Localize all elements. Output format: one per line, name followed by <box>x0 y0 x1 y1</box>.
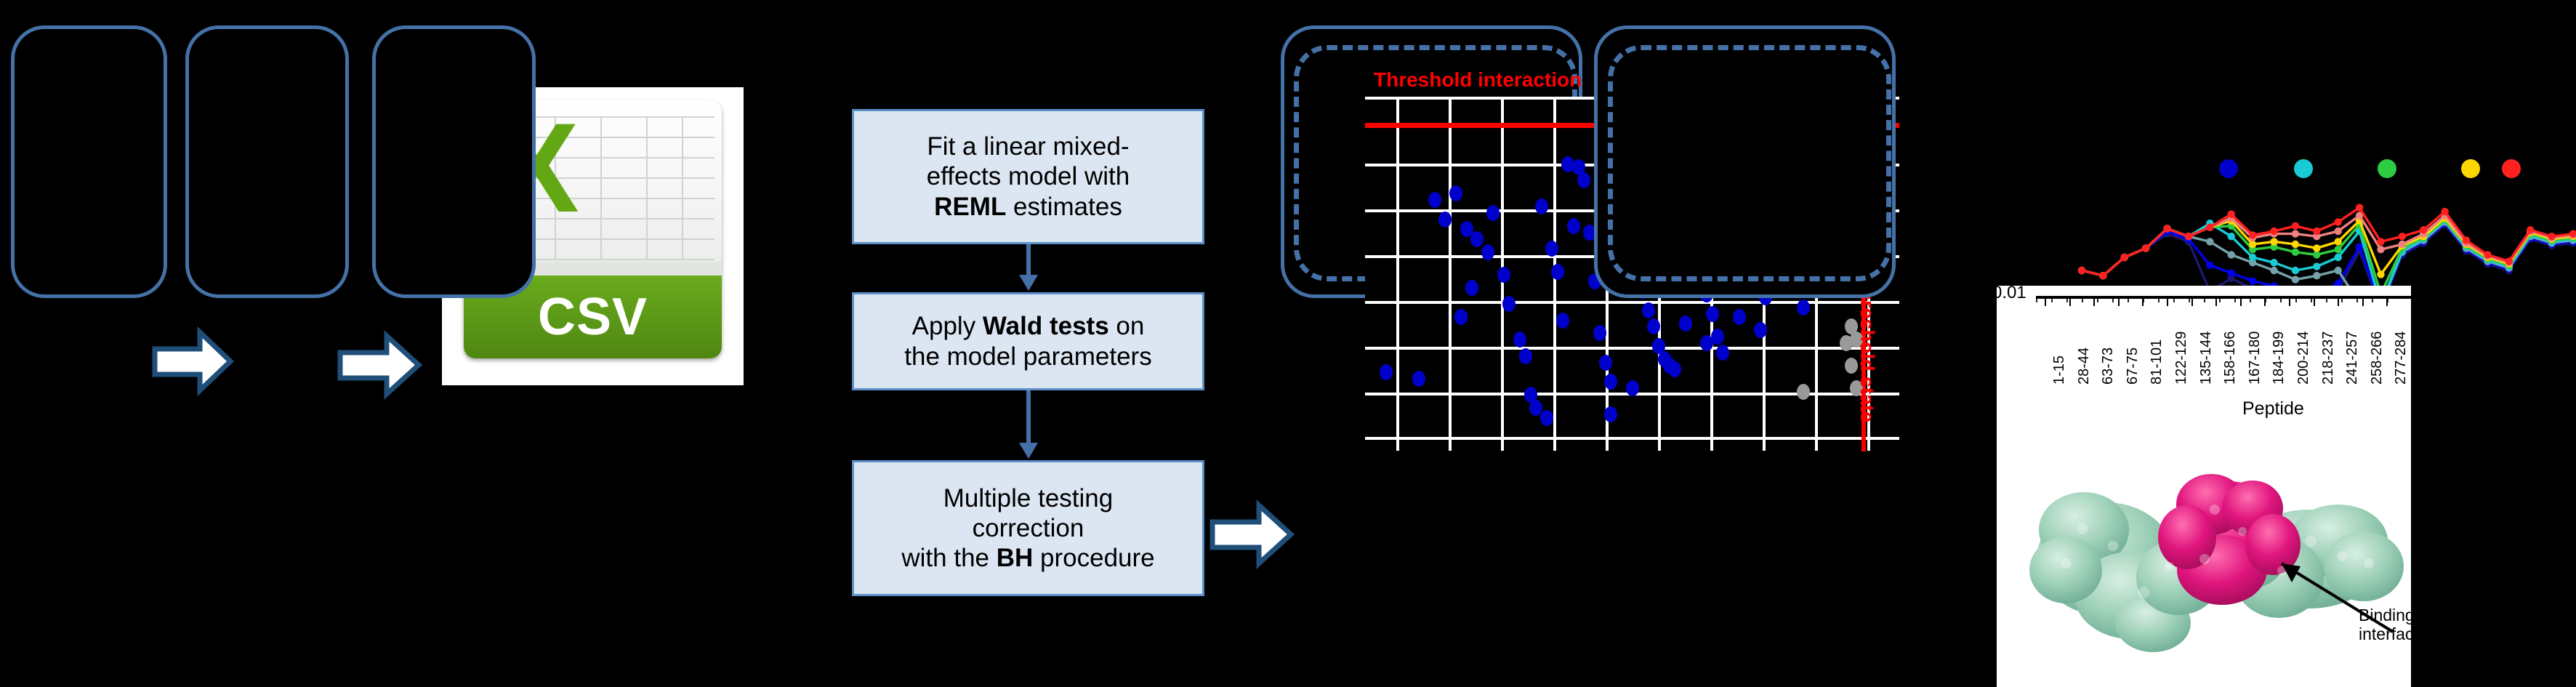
line-point <box>2270 228 2277 235</box>
x-tick <box>2045 296 2046 306</box>
scatter-point-significant <box>1412 371 1425 387</box>
scatter-point-significant <box>1486 205 1500 221</box>
arrow-input-to-csv <box>149 324 236 400</box>
line-point <box>2292 222 2299 230</box>
peptide-tick-label: 122-129 <box>2173 332 2190 385</box>
line-point <box>2249 277 2256 284</box>
scatter-point-significant <box>1706 306 1719 322</box>
grid-h <box>1365 437 1899 440</box>
scatter-point-significant <box>1556 313 1569 329</box>
line-point <box>2292 230 2299 237</box>
peptide-line-chart <box>2018 70 2576 317</box>
scatter-point-significant <box>1599 355 1612 371</box>
line-point <box>2484 251 2491 258</box>
x-minor-tick <box>2051 296 2053 302</box>
line-point <box>2334 228 2341 235</box>
line-point <box>2292 249 2299 256</box>
x-minor-tick <box>2341 296 2343 302</box>
x-minor-tick <box>2372 296 2373 302</box>
x-minor-tick <box>2234 296 2236 302</box>
peptide-figure: 0.01 1-1528-4463-7367-7581-101122-129135… <box>1997 286 2411 687</box>
line-point <box>2270 238 2277 245</box>
scatter-point-significant <box>1668 361 1681 377</box>
x-tick <box>2069 296 2071 306</box>
peptide-tick-label: 218-237 <box>2320 332 2337 385</box>
legend-dot-red <box>2502 159 2521 178</box>
x-minor-tick <box>2219 296 2221 302</box>
x-minor-tick <box>2204 296 2205 302</box>
peptide-tick-label: 135-144 <box>2198 332 2215 385</box>
line-point <box>2505 257 2513 265</box>
x-minor-tick <box>2082 296 2083 302</box>
scatter-point-significant <box>1716 345 1729 361</box>
grid-v <box>1449 97 1452 451</box>
peptide-tick-label: 200-214 <box>2295 332 2312 385</box>
scatter-point-significant <box>1797 300 1810 316</box>
scatter-point-significant <box>1545 241 1558 257</box>
legend-dot-yellow <box>2461 159 2480 178</box>
peptide-tick-label: 1-15 <box>2051 355 2068 385</box>
line-point <box>2548 233 2555 240</box>
line-point <box>2334 246 2341 253</box>
x-minor-tick <box>2311 296 2312 302</box>
line-point <box>2228 233 2235 240</box>
scatter-point-significant <box>1497 267 1510 283</box>
step-bh-box[interactable]: Multiple testingcorrectionwith the BH pr… <box>852 460 1204 596</box>
peptide-tick-label: 167-180 <box>2247 332 2263 385</box>
peptide-tick-label: 184-199 <box>2271 332 2287 385</box>
x-tick <box>2215 296 2217 306</box>
x-minor-tick <box>2173 296 2175 302</box>
x-tick <box>2191 296 2193 306</box>
line-point <box>2313 228 2320 235</box>
line-point <box>2185 233 2192 240</box>
line-point <box>2292 276 2299 283</box>
line-point <box>2270 259 2277 266</box>
line-point <box>2228 210 2235 217</box>
line-point <box>2399 241 2406 248</box>
csv-panel <box>185 25 349 298</box>
x-minor-tick <box>2158 296 2160 302</box>
threshold-interaction-label: Threshold interaction <box>1374 68 1582 92</box>
scatter-point-significant <box>1535 198 1548 214</box>
line-point <box>2313 272 2320 279</box>
grid-v <box>1396 97 1399 451</box>
x-minor-tick <box>2326 296 2327 302</box>
x-minor-tick <box>2280 296 2282 302</box>
grid-h <box>1365 347 1899 350</box>
line-point <box>2334 218 2341 225</box>
arrow-csv-to-model <box>334 327 425 403</box>
x-minor-tick <box>2036 296 2037 302</box>
scatter-point-significant <box>1470 231 1484 247</box>
line-point <box>2078 267 2085 274</box>
x-minor-tick <box>2112 296 2114 302</box>
line-point <box>2249 231 2256 238</box>
line-point <box>2099 272 2106 279</box>
connector-wald-to-bh <box>1010 390 1047 460</box>
line-point <box>2249 241 2256 248</box>
scatter-point-significant <box>1642 302 1655 318</box>
line-point <box>2206 223 2213 230</box>
scatter-point-significant <box>1551 264 1564 280</box>
peptide-tick-label: 277-284 <box>2393 332 2410 385</box>
x-minor-tick <box>2356 296 2358 302</box>
x-minor-tick <box>2066 296 2068 302</box>
peptide-tick-label: 258-266 <box>2369 332 2386 385</box>
peptide-tick-label: 63-73 <box>2100 347 2117 385</box>
peptide-tick-label: 28-44 <box>2076 347 2093 385</box>
x-minor-tick <box>2265 296 2266 302</box>
scatter-point-significant <box>1519 348 1532 364</box>
line-point <box>2334 238 2341 245</box>
x-tick <box>2093 296 2095 306</box>
line-series-green <box>2082 220 2573 294</box>
scatter-point-significant <box>1593 325 1606 341</box>
x-tick <box>2362 296 2364 306</box>
step-wald-box[interactable]: Apply Wald tests onthe model parameters <box>852 292 1204 390</box>
scatter-point-significant <box>1454 309 1468 325</box>
line-point <box>2377 246 2384 253</box>
line-point <box>2249 254 2256 261</box>
modeling-panel <box>372 25 536 298</box>
line-point <box>2206 238 2213 245</box>
input-panel <box>11 25 167 298</box>
legend-dot-blue <box>2219 159 2238 178</box>
connector-reml-to-wald <box>1010 244 1047 292</box>
x-axis-title: Peptide <box>2242 398 2304 419</box>
scatter-point-significant <box>1540 410 1553 426</box>
scatter-point-significant <box>1626 380 1639 396</box>
x-minor-tick <box>2097 296 2098 302</box>
line-point <box>2142 244 2149 252</box>
scatter-point-significant <box>1604 374 1617 390</box>
scatter-point-significant <box>1733 309 1746 325</box>
line-point <box>2527 226 2534 233</box>
scatter-point-significant <box>1577 172 1590 188</box>
csv-label-text: CSV <box>538 287 648 347</box>
step-reml-box[interactable]: Fit a linear mixed-effects model withREM… <box>852 109 1204 244</box>
line-point <box>2270 267 2277 274</box>
peptide-tick-label: 81-101 <box>2149 340 2165 385</box>
line-point <box>2420 226 2427 233</box>
line-point <box>2356 204 2363 211</box>
peptide-results-panel-inner <box>1608 45 1891 281</box>
x-axis-line <box>2036 296 2411 299</box>
scatter-point-significant <box>1465 280 1478 296</box>
threshold-state-label: Threshold state <box>1856 276 1878 422</box>
grid-h <box>1365 301 1899 304</box>
scatter-point-significant <box>1380 364 1393 380</box>
x-tick <box>2240 296 2242 306</box>
arrow-model-to-results <box>1207 497 1297 573</box>
line-point <box>2292 241 2299 248</box>
line-point <box>2163 225 2170 232</box>
legend-dot-green <box>2378 159 2396 178</box>
x-minor-tick <box>2295 296 2297 302</box>
step-reml-text: Fit a linear mixed-effects model withREM… <box>927 132 1130 222</box>
line-point <box>2441 208 2448 215</box>
step-bh-text: Multiple testingcorrectionwith the BH pr… <box>901 483 1154 574</box>
line-point <box>2313 251 2320 258</box>
line-point <box>2292 267 2299 274</box>
line-point <box>2399 233 2406 240</box>
scatter-point-significant <box>1428 192 1441 208</box>
y-tick-label: 0.01 <box>1997 286 2026 303</box>
line-point <box>2206 262 2213 269</box>
scatter-point-significant <box>1567 218 1580 234</box>
line-point <box>2313 244 2320 252</box>
scatter-point-significant <box>1513 332 1526 347</box>
scatter-point-significant <box>1604 406 1617 422</box>
x-minor-tick <box>2387 296 2388 302</box>
x-tick <box>2167 296 2168 306</box>
scatter-point-significant <box>1754 322 1767 338</box>
x-minor-tick <box>2128 296 2129 302</box>
x-minor-tick <box>2250 296 2251 302</box>
scatter-point-nonsignificant <box>1797 384 1810 400</box>
line-point <box>2228 269 2235 276</box>
binding-interface-callout: Bindinginterface <box>2359 606 2411 644</box>
line-point <box>2334 267 2341 274</box>
protein-structure-image <box>1997 421 2411 687</box>
x-tick <box>2314 296 2315 306</box>
x-tick <box>2338 296 2339 306</box>
peptide-tick-label: 241-257 <box>2344 332 2361 385</box>
line-point <box>2313 262 2320 270</box>
scatter-point-significant <box>1502 296 1516 312</box>
peptide-tick-label: 158-166 <box>2222 332 2239 385</box>
scatter-point-significant <box>1481 244 1494 260</box>
peptide-tick-label: 67-75 <box>2125 347 2141 385</box>
workflow-diagram: X CSV Fit a linear mixed-effects model w… <box>0 0 2576 687</box>
line-point <box>2377 270 2384 278</box>
legend-dot-cyan <box>2294 159 2313 178</box>
step-wald-text: Apply Wald tests onthe model parameters <box>904 311 1151 371</box>
x-minor-tick <box>2189 296 2190 302</box>
line-point <box>2334 254 2341 261</box>
line-point <box>2463 236 2470 244</box>
line-point <box>2377 238 2384 245</box>
line-point <box>2121 254 2128 261</box>
x-tick <box>2289 296 2290 306</box>
line-point <box>2228 251 2235 258</box>
scatter-point-significant <box>1679 316 1692 332</box>
x-minor-tick <box>2143 296 2144 302</box>
x-tick <box>2118 296 2120 306</box>
scatter-point-significant <box>1449 185 1462 201</box>
